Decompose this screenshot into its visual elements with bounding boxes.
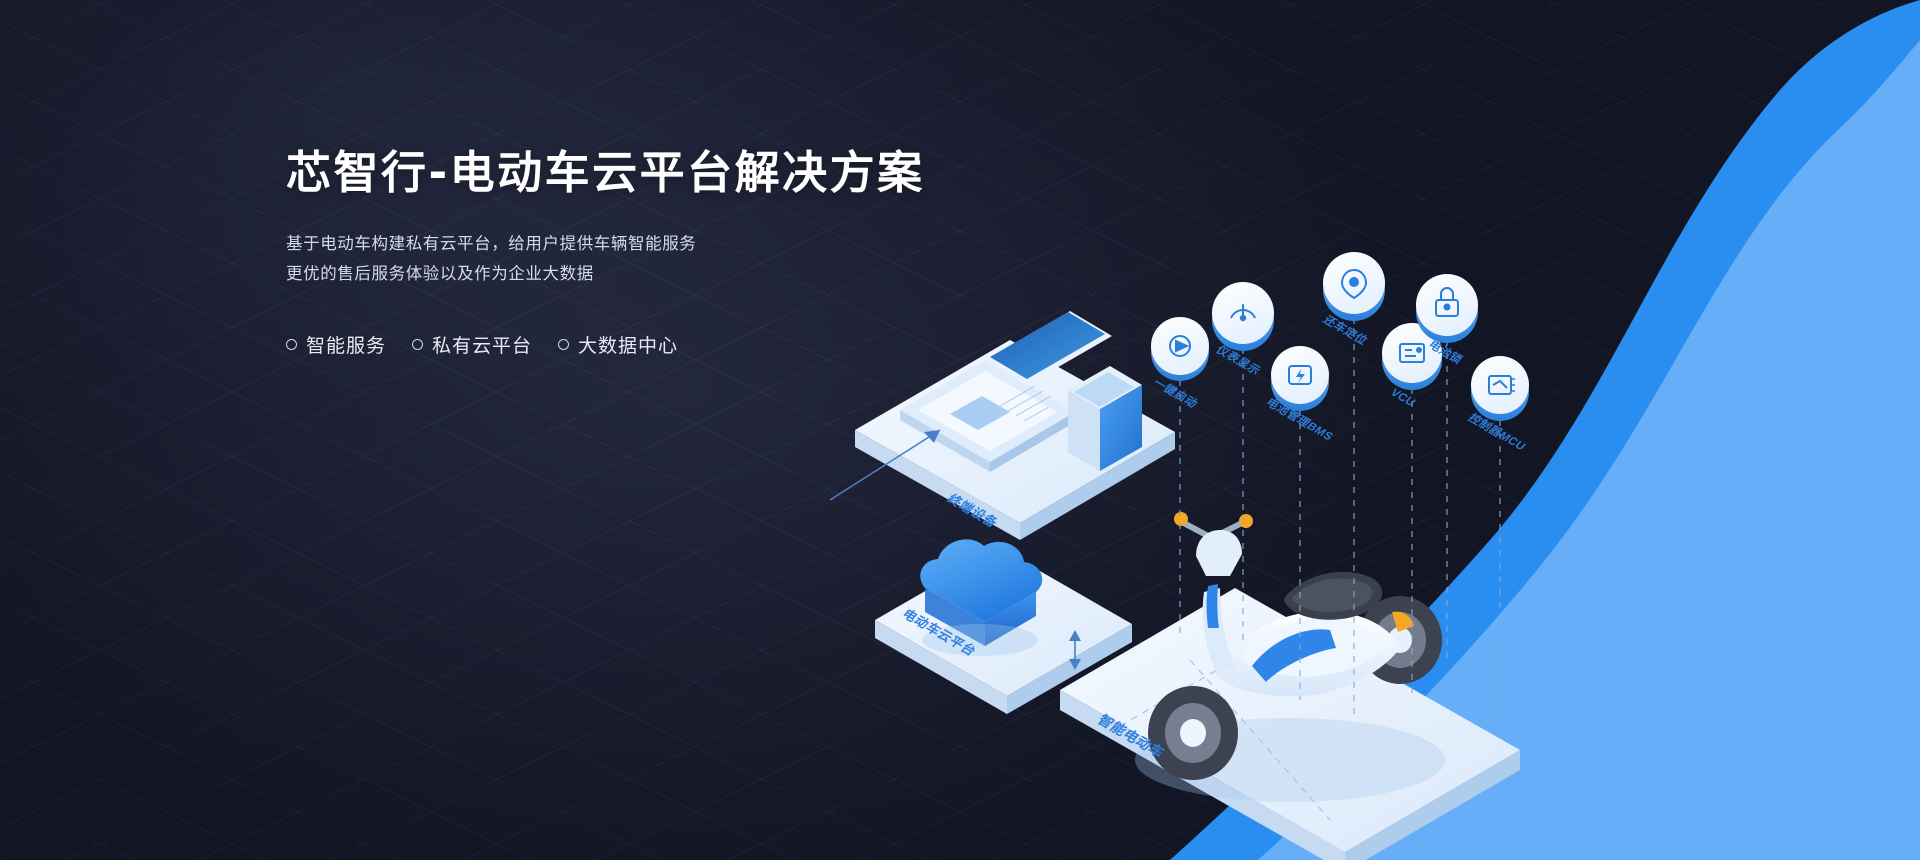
front-wheel <box>1148 686 1238 780</box>
feature-item-1[interactable]: 私有云平台 <box>412 331 532 358</box>
subcopy-line-1: 基于电动车构建私有云平台，给用户提供车辆智能服务 <box>286 230 986 259</box>
node-coin-bms <box>1271 346 1329 411</box>
copy-block: 芯智行-电动车云平台解决方案 基于电动车构建私有云平台，给用户提供车辆智能服务 … <box>286 148 986 358</box>
subcopy-line-2: 更优的售后服务体验以及作为企业大数据 <box>286 260 986 289</box>
feature-label-2: 大数据中心 <box>578 331 678 358</box>
page-title: 芯智行-电动车云平台解决方案 <box>286 148 986 198</box>
feature-list: 智能服务 私有云平台 大数据中心 <box>286 331 986 358</box>
feature-label-0: 智能服务 <box>306 331 386 358</box>
node-coin-return-locate <box>1323 252 1385 321</box>
isometric-illustration: 终端设备 电动车云平台 智能电动车 一键启动 仪表显示 电池管理BMS 还车定位… <box>0 0 1920 860</box>
banner-root: 芯智行-电动车云平台解决方案 基于电动车构建私有云平台，给用户提供车辆智能服务 … <box>0 0 1920 860</box>
feature-item-0[interactable]: 智能服务 <box>286 331 386 358</box>
circle-bullet-icon <box>286 339 297 350</box>
node-coin-mcu <box>1471 356 1529 421</box>
subcopy-block: 基于电动车构建私有云平台，给用户提供车辆智能服务 更优的售后服务体验以及作为企业… <box>286 230 986 289</box>
node-coin-one-key-start <box>1151 317 1209 381</box>
feature-item-2[interactable]: 大数据中心 <box>558 331 678 358</box>
circle-bullet-icon <box>558 339 569 350</box>
feature-label-1: 私有云平台 <box>432 331 532 358</box>
node-coin-dashboard <box>1212 282 1274 351</box>
node-coin-battery-lock <box>1416 274 1478 343</box>
circle-bullet-icon <box>412 339 423 350</box>
